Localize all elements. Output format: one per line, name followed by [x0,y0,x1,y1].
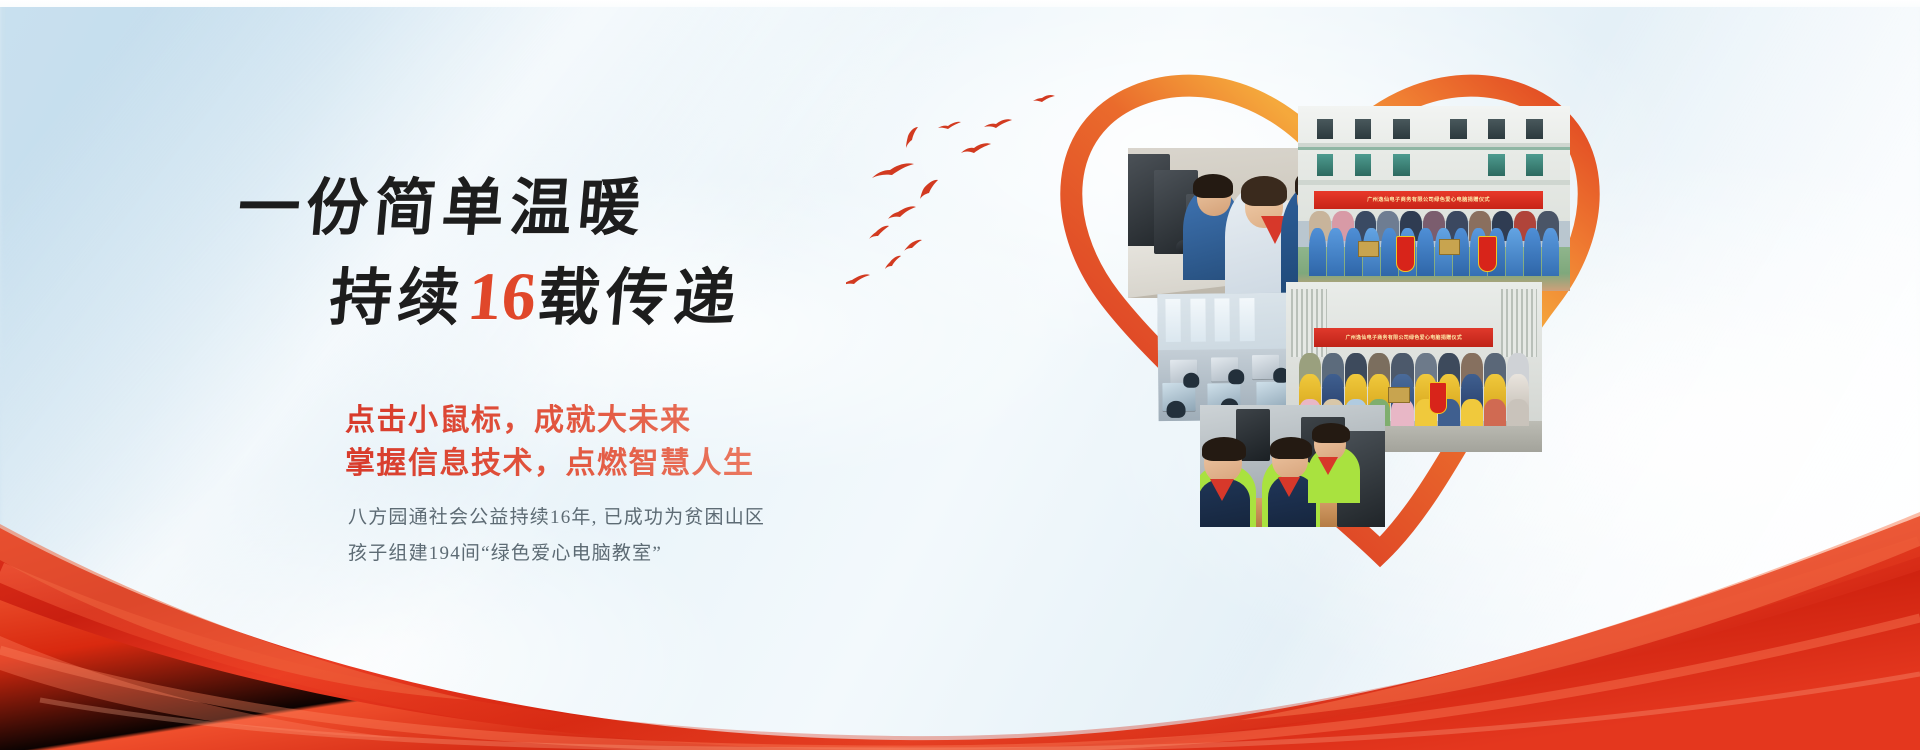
headline-line-2: 持续16载传递 [327,262,881,330]
photo-students-computers [1200,405,1385,527]
photo-collage: 广州逸仙电子商务有限公司绿色爱心电脑捐赠仪式 [1000,40,1760,600]
subtitle-line-2: 掌握信息技术，点燃智慧人生 [345,443,865,486]
body-text-line-2: 孩子组建194间“绿色爱心电脑教室” [348,536,908,572]
ceremony-banner-indoor-text: 广州逸仙电子商务有限公司绿色爱心电脑捐赠仪式 [1345,334,1462,341]
body-text-line-1: 八方园通社会公益持续16年, 已成功为贫困山区 [348,500,908,536]
photo-donation-ceremony-outdoor: 广州逸仙电子商务有限公司绿色爱心电脑捐赠仪式 [1298,106,1570,291]
charity-banner: 一份简单温暖 持续16载传递 点击小鼠标，成就大未来 掌握信息技术，点燃智慧人生… [0,0,1920,750]
headline: 一份简单温暖 持续16载传递 [238,178,878,330]
ceremony-banner-outdoor: 广州逸仙电子商务有限公司绿色爱心电脑捐赠仪式 [1314,191,1542,209]
subtitle: 点击小鼠标，成就大未来 掌握信息技术，点燃智慧人生 [345,400,865,485]
headline-line-2-suffix: 载传递 [535,265,745,333]
subtitle-line-1: 点击小鼠标，成就大未来 [345,400,865,443]
heart-collage: 广州逸仙电子商务有限公司绿色爱心电脑捐赠仪式 [1000,40,1760,600]
headline-line-1: 一份简单温暖 [235,178,880,240]
ceremony-banner-indoor: 广州逸仙电子商务有限公司绿色爱心电脑捐赠仪式 [1314,328,1493,347]
text-block: 一份简单温暖 持续16载传递 点击小鼠标，成就大未来 掌握信息技术，点燃智慧人生… [0,0,900,750]
headline-years-number: 16 [463,258,542,334]
ceremony-banner-outdoor-text: 广州逸仙电子商务有限公司绿色爱心电脑捐赠仪式 [1367,196,1490,203]
headline-line-2-prefix: 持续 [327,265,469,333]
body-text: 八方园通社会公益持续16年, 已成功为贫困山区 孩子组建194间“绿色爱心电脑教… [348,500,908,573]
